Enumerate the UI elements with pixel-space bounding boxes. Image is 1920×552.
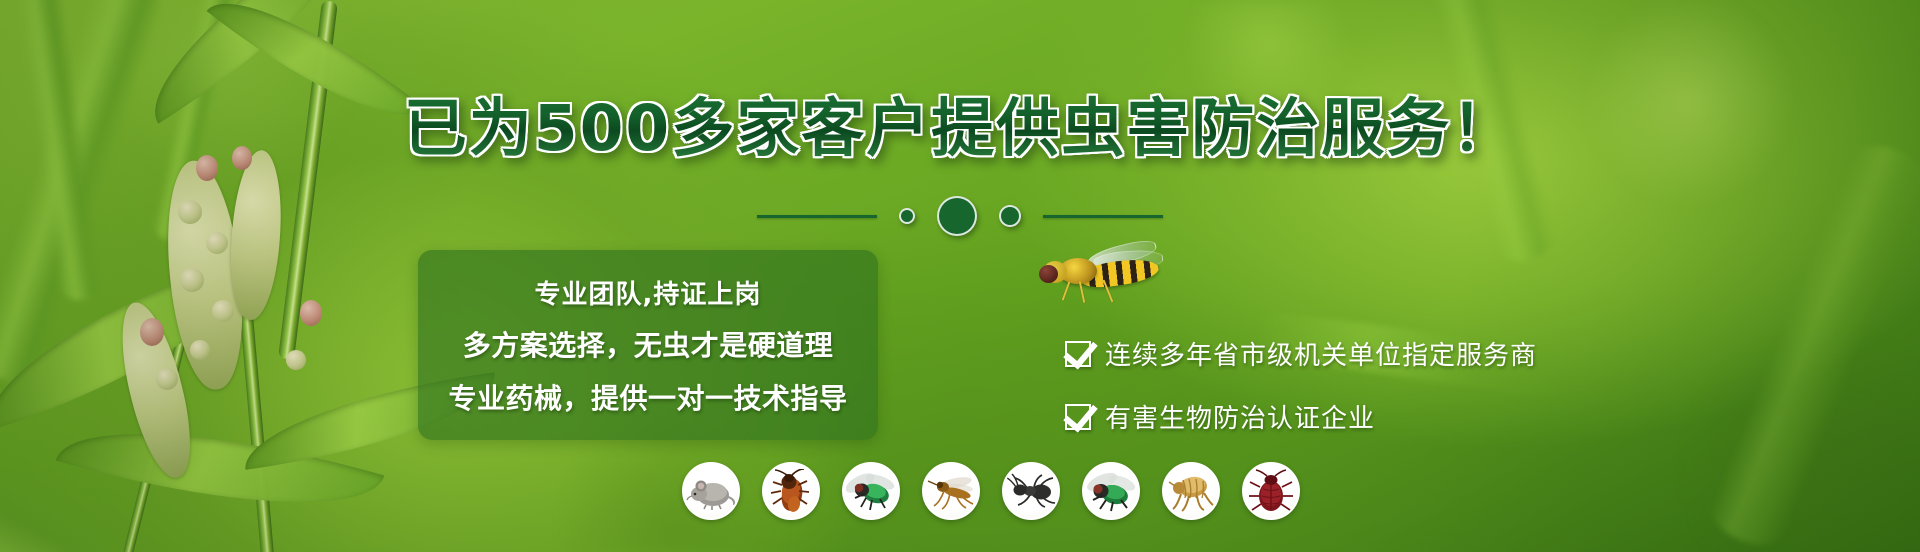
divider-rule-right bbox=[1043, 215, 1163, 218]
housefly-icon[interactable] bbox=[1082, 462, 1140, 520]
credential-label: 有害生物防治认证企业 bbox=[1105, 398, 1375, 435]
divider-dot-large bbox=[937, 196, 977, 236]
hoverfly-eye bbox=[1039, 265, 1058, 283]
selling-point-3: 专业药械，提供一对一技术指导 bbox=[448, 377, 847, 417]
credential-item: 有害生物防治认证企业 bbox=[1065, 398, 1537, 435]
hoverfly-leg bbox=[1062, 281, 1071, 300]
pest-control-hero-banner: 已为500多家客户提供虫害防治服务！ 专业团队,持证上岗 多方案选择，无虫才是硬… bbox=[0, 0, 1920, 552]
check-mark-icon bbox=[1065, 341, 1091, 367]
selling-points-panel: 专业团队,持证上岗 多方案选择，无虫才是硬道理 专业药械，提供一对一技术指导 bbox=[418, 250, 878, 440]
mosquito-icon[interactable] bbox=[922, 462, 980, 520]
divider-rule-left bbox=[757, 215, 877, 218]
selling-point-2: 多方案选择，无虫才是硬道理 bbox=[463, 324, 834, 364]
flea-icon[interactable] bbox=[1162, 462, 1220, 520]
pest-icon-row bbox=[682, 462, 1300, 520]
divider-dot-medium bbox=[999, 205, 1021, 227]
cockroach-icon[interactable] bbox=[762, 462, 820, 520]
decorative-divider bbox=[0, 196, 1920, 236]
credential-item: 连续多年省市级机关单位指定服务商 bbox=[1065, 335, 1537, 372]
hoverfly-photo bbox=[1035, 243, 1165, 305]
bedbug-icon[interactable] bbox=[1242, 462, 1300, 520]
page-title: 已为500多家客户提供虫害防治服务！ bbox=[0, 78, 1920, 169]
ant-icon[interactable] bbox=[1002, 462, 1060, 520]
selling-point-1: 专业团队,持证上岗 bbox=[535, 274, 762, 311]
blowfly-icon[interactable] bbox=[842, 462, 900, 520]
check-mark-icon bbox=[1065, 404, 1091, 430]
credentials-list: 连续多年省市级机关单位指定服务商 有害生物防治认证企业 bbox=[1065, 335, 1537, 435]
divider-dot-small bbox=[899, 208, 915, 224]
credential-label: 连续多年省市级机关单位指定服务商 bbox=[1105, 335, 1537, 372]
mouse-icon[interactable] bbox=[682, 462, 740, 520]
